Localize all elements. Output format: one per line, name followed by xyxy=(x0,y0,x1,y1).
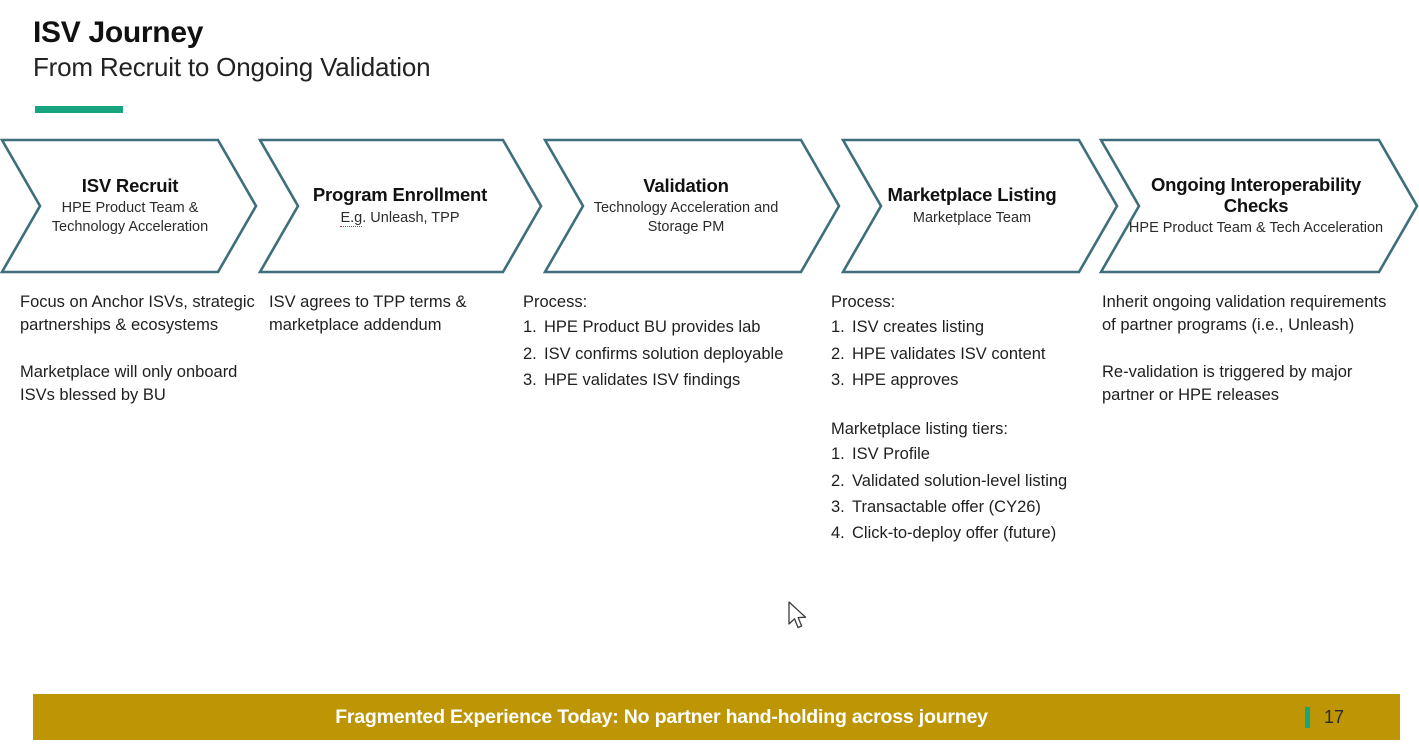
detail-column-validation: Process: 1. HPE Product BU provides lab … xyxy=(523,291,823,396)
list-item-number: 2. xyxy=(831,343,852,366)
list-item-text: ISV confirms solution deployable xyxy=(544,343,823,366)
list-item: 1. ISV Profile xyxy=(831,443,1103,466)
stage-chevron-ongoing-interoperability-checks-text: Ongoing Interoperability Checks HPE Prod… xyxy=(1128,138,1384,274)
list-item-text: Transactable offer (CY26) xyxy=(852,496,1103,519)
detail-column-ongoing-interoperability-checks: Inherit ongoing validation requirements … xyxy=(1102,291,1387,408)
list-item: 4. Click-to-deploy offer (future) xyxy=(831,522,1103,545)
detail-numbered-list-secondary: 1. ISV Profile 2. Validated solution-lev… xyxy=(831,443,1103,546)
list-item: 2. HPE validates ISV content xyxy=(831,343,1103,366)
mouse-cursor-icon xyxy=(787,601,809,631)
list-item-text: Validated solution-level listing xyxy=(852,470,1103,493)
stage-chevron-marketplace-listing-text: Marketplace Listing Marketplace Team xyxy=(866,138,1078,274)
detail-list-heading-secondary: Marketplace listing tiers: xyxy=(831,418,1103,441)
list-item-number: 1. xyxy=(523,316,544,339)
detail-paragraph: Inherit ongoing validation requirements … xyxy=(1102,291,1387,338)
stage-chevron-row: ISV Recruit HPE Product Team & Technolog… xyxy=(0,138,1419,274)
stage-subtitle-spellchecked-word: E.g xyxy=(340,210,362,227)
detail-list-heading: Process: xyxy=(831,291,1103,314)
stage-title: Marketplace Listing xyxy=(888,184,1057,205)
title-accent-bar xyxy=(35,106,123,113)
page-number: 17 xyxy=(1324,707,1344,728)
stage-title: Program Enrollment xyxy=(313,184,487,205)
detail-paragraph: Focus on Anchor ISVs, strategic partners… xyxy=(20,291,255,338)
stage-subtitle: E.g. Unleash, TPP xyxy=(340,209,459,228)
list-item-number: 3. xyxy=(831,369,852,392)
detail-paragraph: Marketplace will only onboard ISVs bless… xyxy=(20,361,255,408)
list-item-number: 3. xyxy=(831,496,852,519)
list-item: 2. Validated solution-level listing xyxy=(831,470,1103,493)
title-block: ISV Journey From Recruit to Ongoing Vali… xyxy=(33,16,933,83)
list-item-number: 4. xyxy=(831,522,852,545)
list-item-number: 1. xyxy=(831,316,852,339)
list-item: 1. ISV creates listing xyxy=(831,316,1103,339)
stage-chevron-isv-recruit-text: ISV Recruit HPE Product Team & Technolog… xyxy=(42,138,218,274)
detail-paragraph: Re-validation is triggered by major part… xyxy=(1102,361,1387,408)
detail-paragraph: ISV agrees to TPP terms & marketplace ad… xyxy=(269,291,509,338)
stage-chevron-program-enrollment-text: Program Enrollment E.g. Unleash, TPP xyxy=(300,138,500,274)
bottom-banner: Fragmented Experience Today: No partner … xyxy=(33,694,1400,740)
detail-numbered-list: 1. ISV creates listing 2. HPE validates … xyxy=(831,316,1103,392)
list-item: 2. ISV confirms solution deployable xyxy=(523,343,823,366)
page-title: ISV Journey xyxy=(33,16,933,49)
list-item: 1. HPE Product BU provides lab xyxy=(523,316,823,339)
list-item-text: HPE approves xyxy=(852,369,1103,392)
list-item-text: HPE validates ISV content xyxy=(852,343,1103,366)
page-subtitle: From Recruit to Ongoing Validation xyxy=(33,53,933,83)
stage-subtitle: HPE Product Team & Tech Acceleration xyxy=(1129,219,1383,238)
list-item-number: 2. xyxy=(523,343,544,366)
detail-column-marketplace-listing: Process: 1. ISV creates listing 2. HPE v… xyxy=(831,291,1103,549)
stage-title: ISV Recruit xyxy=(82,175,179,196)
list-item-text: HPE Product BU provides lab xyxy=(544,316,823,339)
stage-chevron-validation-text: Validation Technology Acceleration and S… xyxy=(570,138,802,274)
detail-numbered-list: 1. HPE Product BU provides lab 2. ISV co… xyxy=(523,316,823,392)
stage-subtitle: HPE Product Team & Technology Accelerati… xyxy=(42,199,218,237)
list-item-text: HPE validates ISV findings xyxy=(544,369,823,392)
stage-title: Validation xyxy=(643,175,728,196)
page-accent-bar xyxy=(1305,707,1310,728)
stage-subtitle: Technology Acceleration and Storage PM xyxy=(570,199,802,237)
list-item: 3. Transactable offer (CY26) xyxy=(831,496,1103,519)
detail-column-isv-recruit: Focus on Anchor ISVs, strategic partners… xyxy=(20,291,255,408)
list-item-number: 3. xyxy=(523,369,544,392)
stage-title: Ongoing Interoperability Checks xyxy=(1128,174,1384,217)
stage-subtitle: Marketplace Team xyxy=(913,209,1031,228)
stage-subtitle-rest: . Unleash, TPP xyxy=(362,210,459,226)
spacer xyxy=(831,396,1103,418)
list-item-text: Click-to-deploy offer (future) xyxy=(852,522,1103,545)
list-item-text: ISV creates listing xyxy=(852,316,1103,339)
list-item: 3. HPE validates ISV findings xyxy=(523,369,823,392)
detail-list-heading: Process: xyxy=(523,291,823,314)
detail-column-program-enrollment: ISV agrees to TPP terms & marketplace ad… xyxy=(269,291,509,338)
page-number-group: 17 xyxy=(1305,694,1344,740)
list-item-number: 1. xyxy=(831,443,852,466)
banner-text: Fragmented Experience Today: No partner … xyxy=(33,694,1400,740)
list-item-text: ISV Profile xyxy=(852,443,1103,466)
list-item-number: 2. xyxy=(831,470,852,493)
list-item: 3. HPE approves xyxy=(831,369,1103,392)
